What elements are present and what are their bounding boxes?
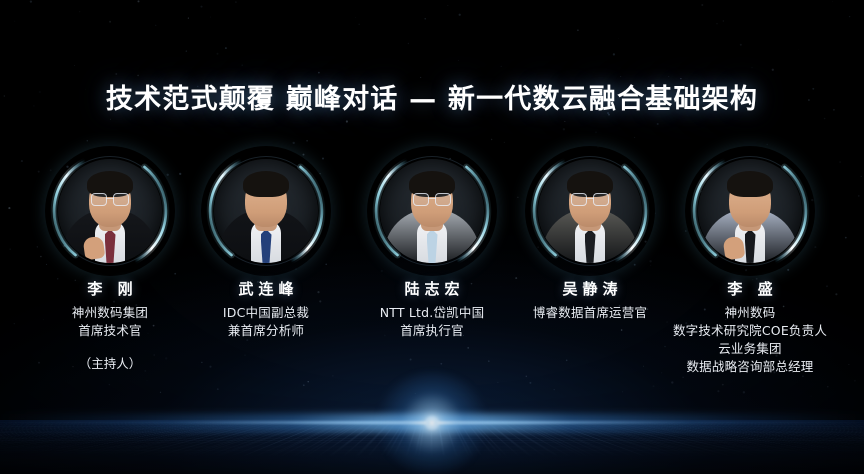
avatar-ring	[211, 156, 321, 266]
portrait-wu-jingtao	[534, 155, 646, 267]
portrait-li-sheng	[694, 155, 806, 267]
affiliation-line: 首席执行官	[337, 322, 527, 340]
affiliation-line: 神州数码	[655, 304, 845, 322]
speaker-name: 武连峰	[171, 279, 361, 299]
portrait-wu-lianfeng	[210, 155, 322, 267]
speaker-card: 武连峰IDC中国副总裁兼首席分析师	[171, 155, 361, 340]
speaker-name: 李 盛	[655, 279, 845, 299]
page-title: 技术范式颠覆 巅峰对话 — 新一代数云融合基础架构	[0, 83, 864, 117]
speaker-role-note: （主持人）	[15, 355, 205, 373]
affiliation-line: 数据战略咨询部总经理	[655, 358, 845, 376]
avatar-ring	[535, 156, 645, 266]
digital-grid-floor	[0, 404, 864, 474]
portrait-lu-zhihong	[376, 155, 488, 267]
speaker-card: 李 盛神州数码数字技术研究院COE负责人云业务集团数据战略咨询部总经理	[655, 155, 845, 376]
avatar-ring	[377, 156, 487, 266]
affiliation-line: 兼首席分析师	[171, 322, 361, 340]
speaker-affiliation: IDC中国副总裁兼首席分析师	[171, 304, 361, 340]
affiliation-line: 云业务集团	[655, 340, 845, 358]
speaker-affiliation: 神州数码数字技术研究院COE负责人云业务集团数据战略咨询部总经理	[655, 304, 845, 376]
slide-canvas: 技术范式颠覆 巅峰对话 — 新一代数云融合基础架构 李 刚神州数码集团首席技术官…	[0, 0, 864, 474]
avatar-ring	[55, 156, 165, 266]
portrait-li-gang	[54, 155, 166, 267]
affiliation-line: IDC中国副总裁	[171, 304, 361, 322]
grid-lines-fine	[0, 422, 864, 456]
affiliation-line: 数字技术研究院COE负责人	[655, 322, 845, 340]
avatar-ring	[695, 156, 805, 266]
